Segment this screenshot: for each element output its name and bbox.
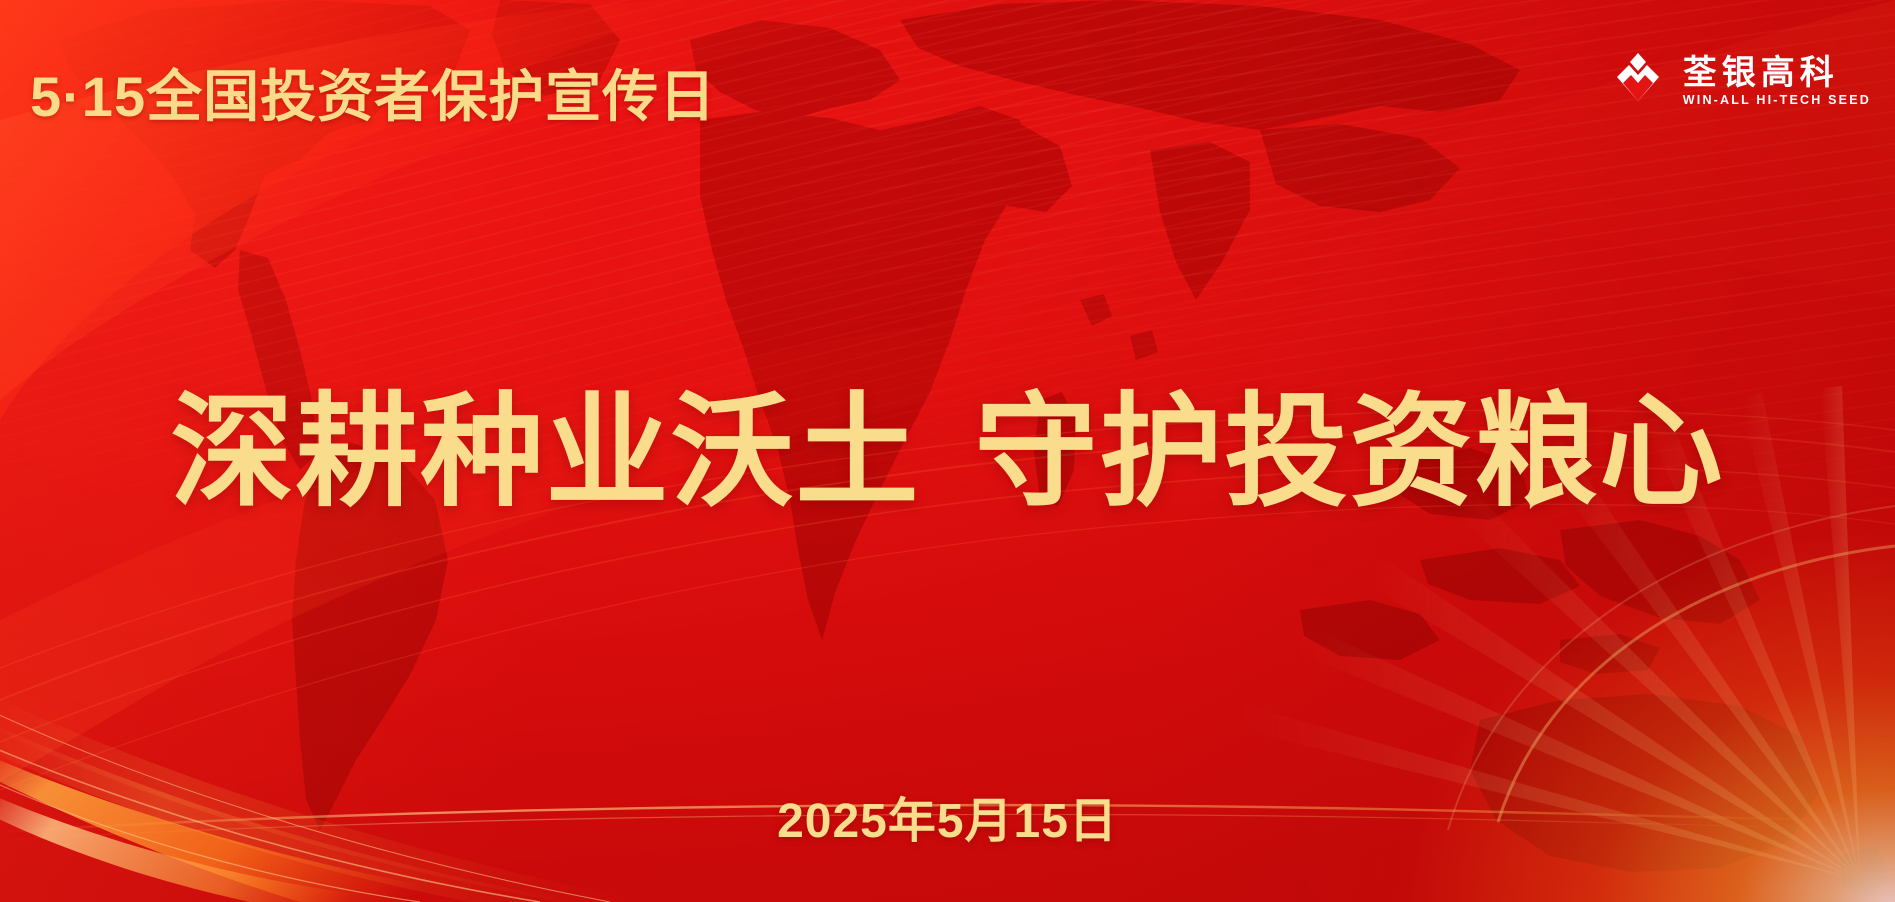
- main-title: 深耕种业沃土守护投资粮心: [0, 352, 1895, 530]
- brand-text-block: 荃银高科 WIN-ALL HI-TECH SEED: [1683, 55, 1871, 108]
- poster-canvas: 5·15全国投资者保护宣传日 荃银高科 WIN-ALL HI-TECH SEED…: [0, 0, 1895, 902]
- brand-name-en: WIN-ALL HI-TECH SEED: [1683, 94, 1871, 108]
- page-headline: 5·15全国投资者保护宣传日: [30, 52, 716, 133]
- main-title-part2: 守护投资粮心: [975, 384, 1725, 521]
- brand-name-cn: 荃银高科: [1683, 55, 1871, 91]
- winall-chevron-logo-icon: [1609, 53, 1667, 109]
- event-date: 2025年5月15日: [0, 781, 1895, 851]
- main-title-part1: 深耕种业沃土: [171, 384, 921, 521]
- brand-logo: 荃银高科 WIN-ALL HI-TECH SEED: [1609, 50, 1871, 112]
